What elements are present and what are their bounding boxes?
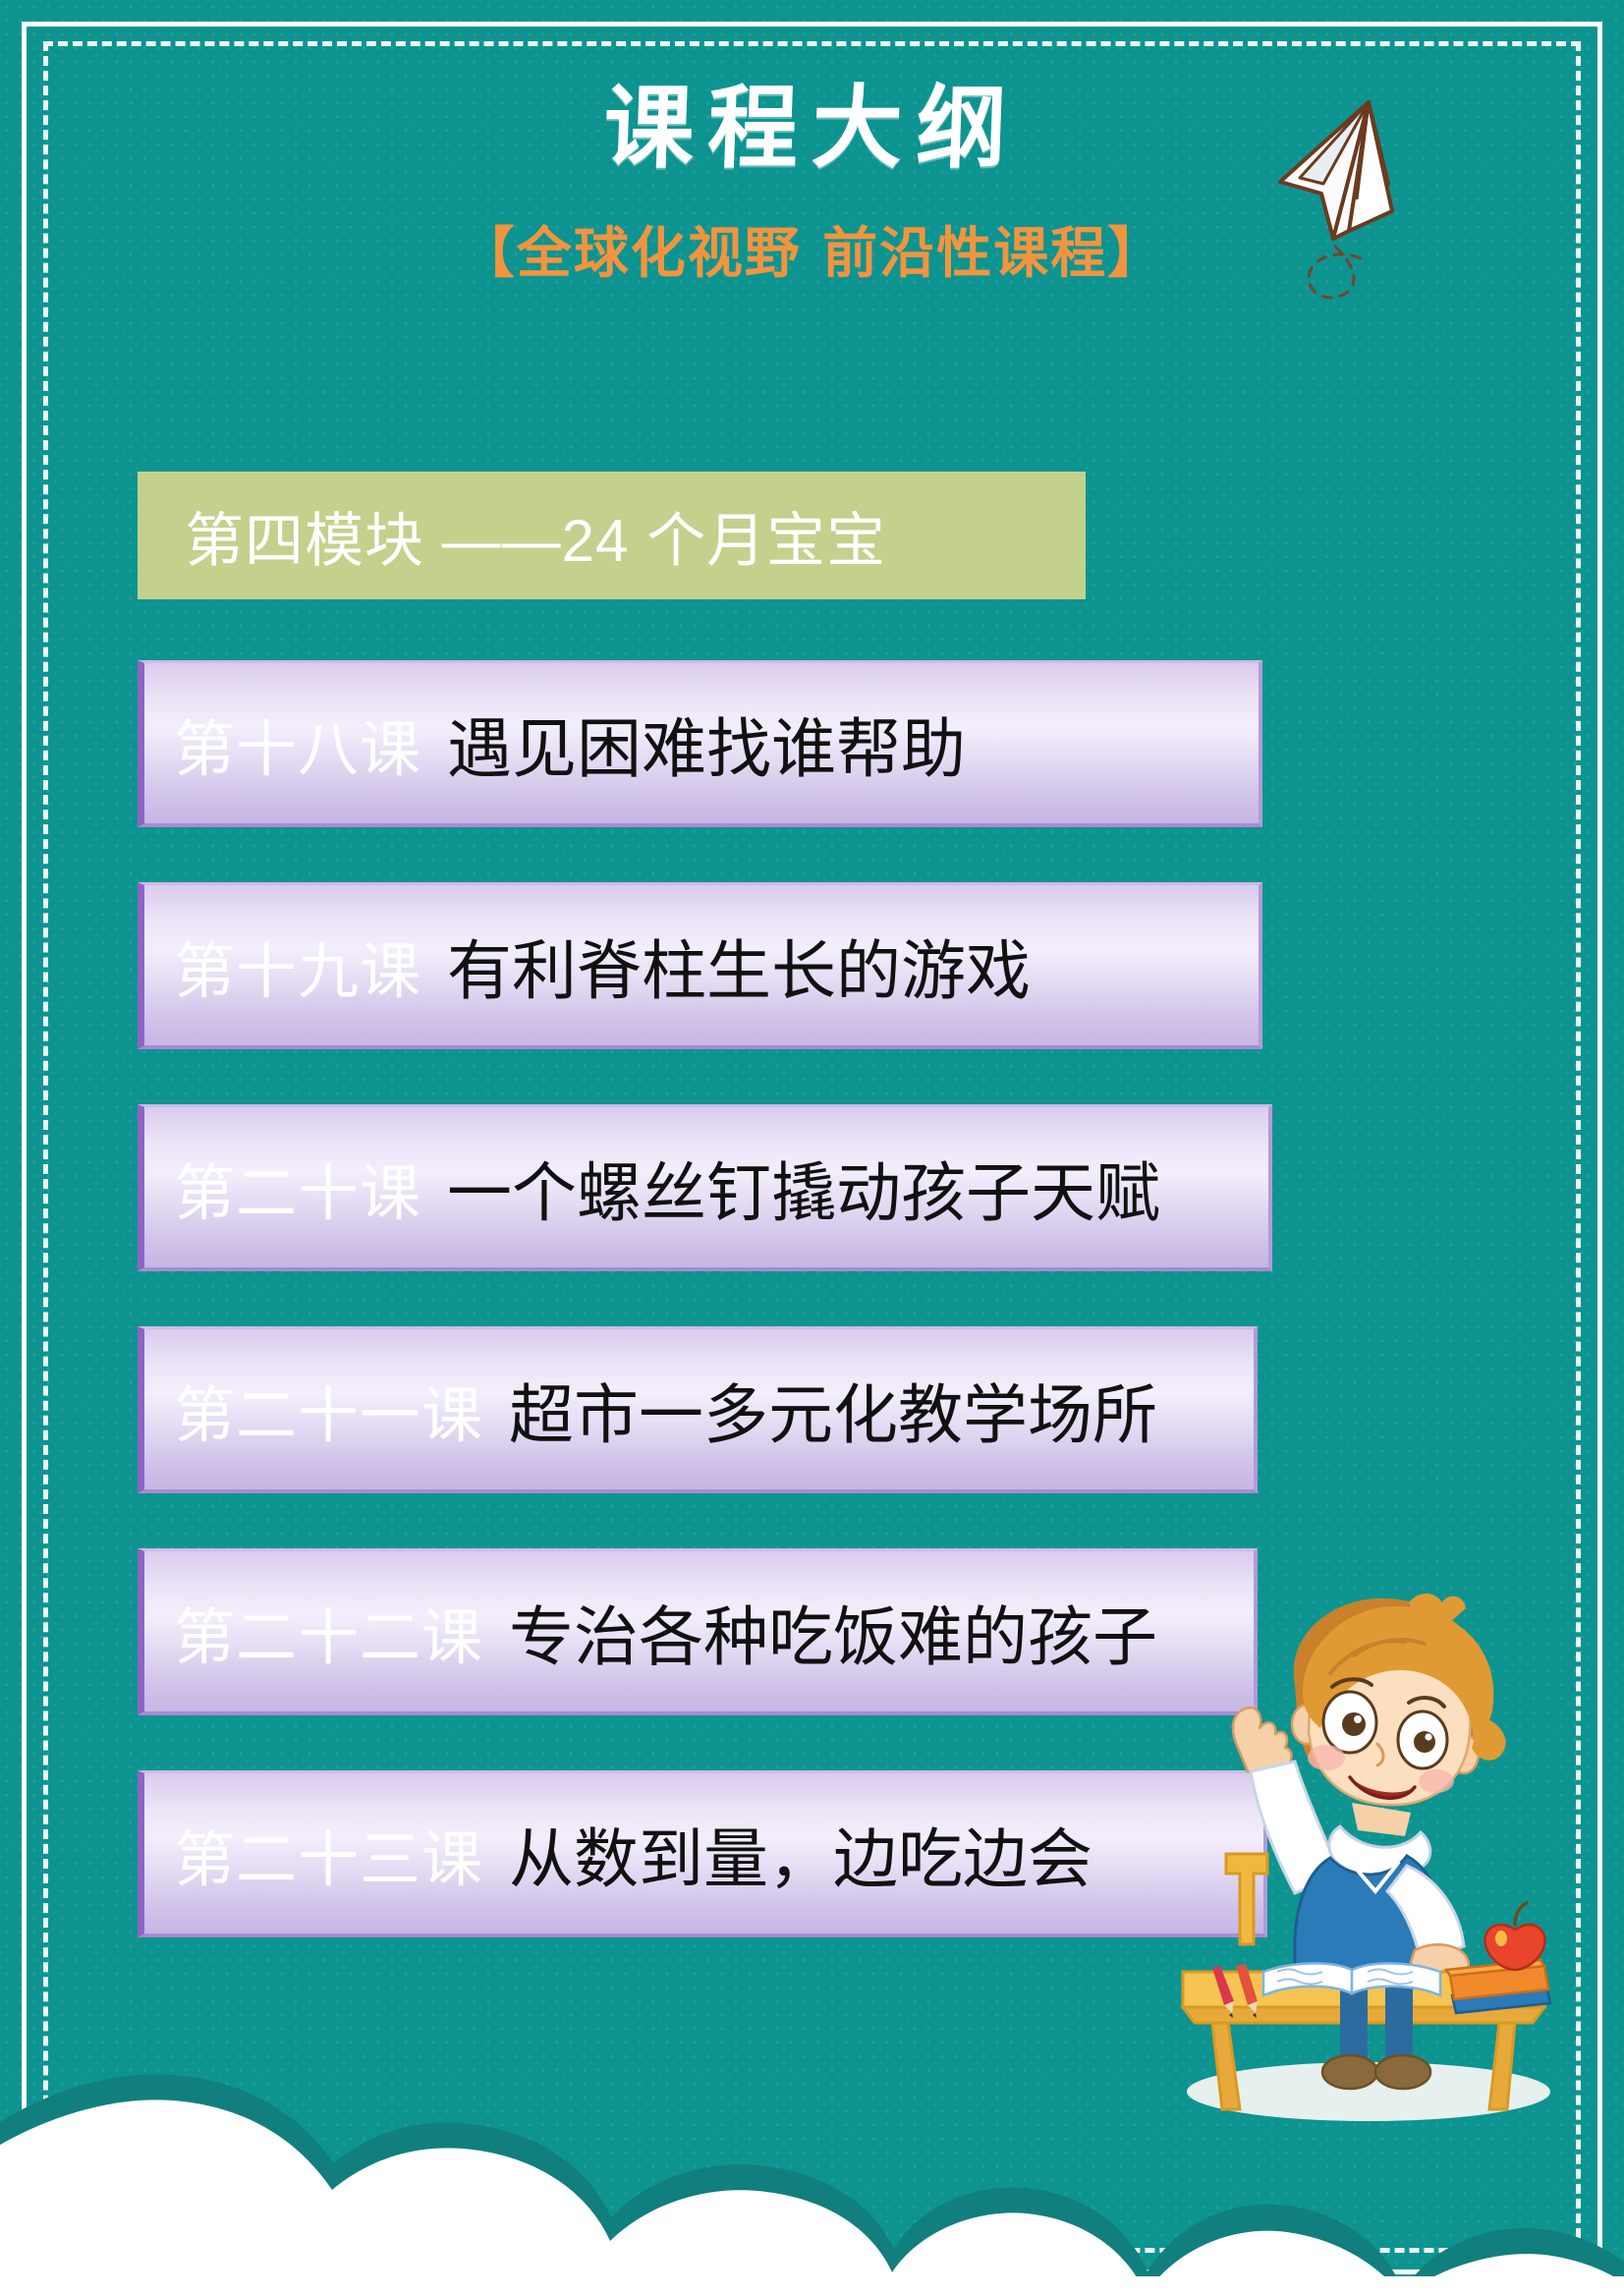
- lesson-title: 专治各种吃饭难的孩子: [509, 1585, 1157, 1679]
- lesson-number: 第二十三课: [174, 1810, 483, 1898]
- lesson-title: 一个螺丝钉撬动孩子天赋: [447, 1141, 1160, 1235]
- lesson-number: 第二十一课: [174, 1366, 483, 1454]
- lesson-number: 第二十二课: [174, 1588, 483, 1676]
- lesson-number: 第十九课: [174, 922, 421, 1010]
- lesson-row[interactable]: 第十八课 遇见困难找谁帮助: [138, 660, 1262, 827]
- paper-airplane-icon: [1262, 74, 1498, 300]
- lesson-row[interactable]: 第十九课 有利脊柱生长的游戏: [138, 882, 1262, 1049]
- poster-root: 课程大纲 【全球化视野 前沿性课程】 第四模块 ——24 个月宝宝 第十八课 遇…: [0, 0, 1624, 2296]
- lesson-row[interactable]: 第二十二课 专治各种吃饭难的孩子: [138, 1548, 1258, 1715]
- lesson-title: 遇见困难找谁帮助: [447, 697, 966, 791]
- lesson-row[interactable]: 第二十课 一个螺丝钉撬动孩子天赋: [138, 1104, 1272, 1271]
- module-label: 第四模块 ——24 个月宝宝: [185, 493, 886, 579]
- lesson-number: 第二十课: [174, 1144, 421, 1232]
- course-outline-list: 第四模块 ——24 个月宝宝 第十八课 遇见困难找谁帮助 第十九课 有利脊柱生长…: [138, 472, 1238, 1992]
- lesson-title: 超市一多元化教学场所: [509, 1363, 1157, 1457]
- apple-icon: [1485, 1903, 1545, 1970]
- module-header: 第四模块 ——24 个月宝宝: [138, 472, 1086, 599]
- lesson-row[interactable]: 第二十一课 超市一多元化教学场所: [138, 1326, 1258, 1493]
- lesson-title: 从数到量，边吃边会: [509, 1807, 1092, 1901]
- lesson-row[interactable]: 第二十三课 从数到量，边吃边会: [138, 1770, 1267, 1937]
- student-boy-illustration: [1157, 1579, 1570, 2129]
- lesson-number: 第十八课: [174, 700, 421, 788]
- lesson-title: 有利脊柱生长的游戏: [447, 919, 1031, 1013]
